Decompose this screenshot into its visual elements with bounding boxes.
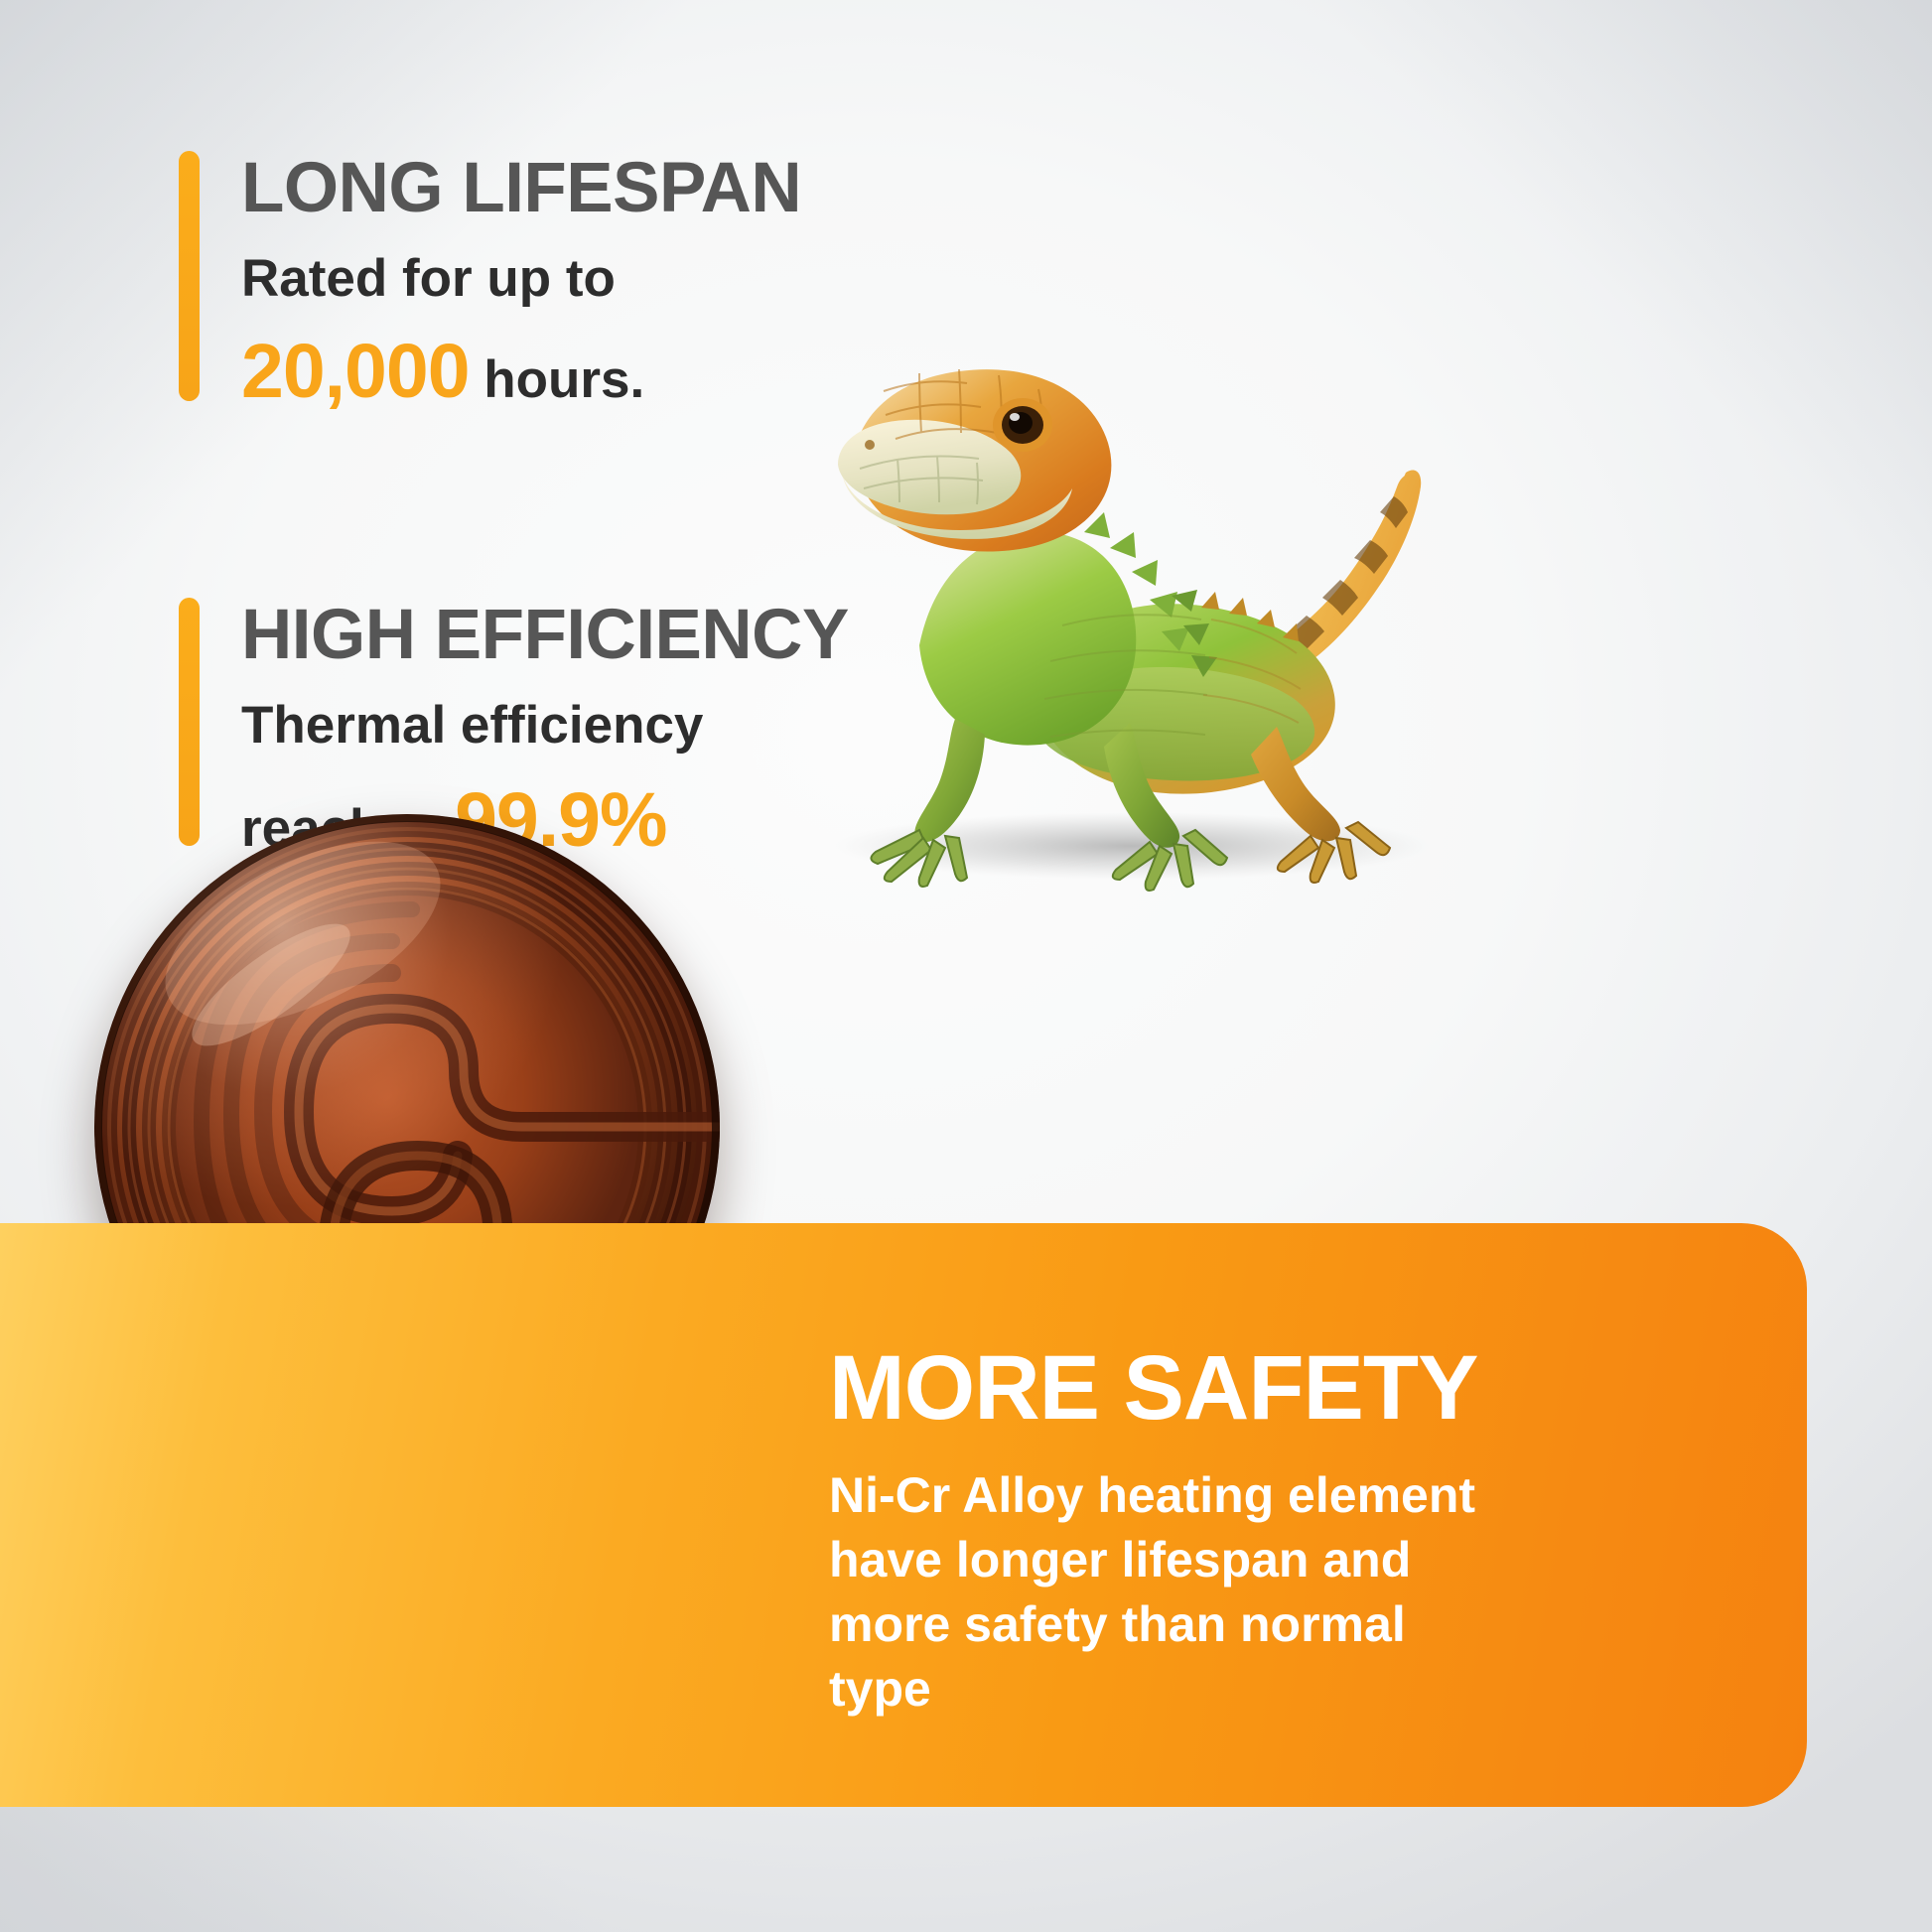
feature-line-rated-for-up-to: Rated for up to [241,245,801,313]
safety-body-text: Ni-Cr Alloy heating element have longer … [829,1463,1514,1722]
accent-bar-icon [179,151,200,401]
feature-title-long-lifespan: LONG LIFESPAN [241,153,801,223]
feature-block-long-lifespan: LONG LIFESPAN Rated for up to 20,000 hou… [179,151,801,401]
feature-text-group: LONG LIFESPAN Rated for up to 20,000 hou… [241,151,801,401]
safety-content-group: MORE SAFETY Ni-Cr Alloy heating element … [829,1342,1782,1722]
lifespan-unit: hours. [470,350,645,409]
lifespan-value: 20,000 [241,329,470,414]
infographic-canvas: LONG LIFESPAN Rated for up to 20,000 hou… [0,0,1932,1932]
lizard-photo-image [735,179,1489,894]
safety-title: MORE SAFETY [829,1342,1782,1434]
accent-bar-icon [179,598,200,846]
feature-line-hours-value: 20,000 hours. [241,323,801,421]
